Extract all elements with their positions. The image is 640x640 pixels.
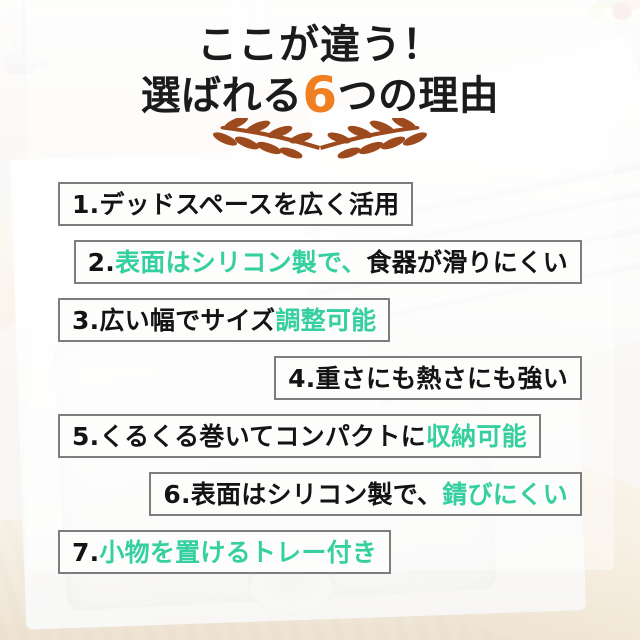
feature-text-6-black: 表面はシリコン製で、 <box>191 482 443 507</box>
feature-text-3-teal: 調整可能 <box>275 308 376 333</box>
feature-box-4: 4.重さにも熱さにも強い <box>274 356 582 400</box>
feature-text-4-black: 重さにも熱さにも強い <box>315 366 568 391</box>
feature-box-7: 7.小物を置けるトレー付き <box>58 530 391 574</box>
feature-row-4: 4.重さにも熱さにも強い <box>0 356 640 414</box>
feature-index-5: 5. <box>72 424 99 449</box>
feature-index-6: 6. <box>163 482 190 507</box>
feature-row-1: 1.デッドスペースを広く活用 <box>0 182 640 240</box>
content-layer: ここが違う！ 選ばれる6つの理由 <box>0 0 640 640</box>
feature-row-2: 2.表面はシリコン製で、食器が滑りにくい <box>0 240 640 298</box>
feature-row-6: 6.表面はシリコン製で、錆びにくい <box>0 472 640 530</box>
headline-count-number: 6 <box>302 66 337 124</box>
feature-row-5: 5.くるくる巻いてコンパクトに収納可能 <box>0 414 640 472</box>
feature-index-2: 2. <box>88 250 115 275</box>
feature-row-7: 7.小物を置けるトレー付き <box>0 530 640 588</box>
feature-box-5: 5.くるくる巻いてコンパクトに収納可能 <box>58 414 541 458</box>
feature-box-6: 6.表面はシリコン製で、錆びにくい <box>149 472 582 516</box>
feature-text-6-teal: 錆びにくい <box>442 482 568 507</box>
feature-text-1-black: デッドスペースを広く活用 <box>99 192 399 217</box>
feature-index-4: 4. <box>288 366 315 391</box>
laurel-branch-icon <box>184 118 456 172</box>
feature-index-7: 7. <box>72 540 99 565</box>
feature-index-3: 3. <box>72 308 99 333</box>
feature-row-3: 3.広い幅でサイズ調整可能 <box>0 298 640 356</box>
headline-line-2: 選ばれる6つの理由 <box>0 70 640 121</box>
headline-line-2-suffix: つの理由 <box>338 73 500 119</box>
infographic-canvas: ここが違う！ 選ばれる6つの理由 <box>0 0 640 640</box>
feature-list: 1.デッドスペースを広く活用 2.表面はシリコン製で、食器が滑りにくい 3.広い… <box>0 182 640 588</box>
headline-line-2-prefix: 選ばれる <box>141 73 303 119</box>
feature-box-2: 2.表面はシリコン製で、食器が滑りにくい <box>74 240 582 284</box>
feature-text-5-black: くるくる巻いてコンパクトに <box>99 424 426 449</box>
feature-text-3-black: 広い幅でサイズ <box>99 308 275 333</box>
feature-index-1: 1. <box>72 192 99 217</box>
feature-box-3: 3.広い幅でサイズ調整可能 <box>58 298 390 342</box>
feature-text-7-teal: 小物を置けるトレー付き <box>99 540 377 565</box>
feature-text-5-teal: 収納可能 <box>426 424 527 449</box>
feature-text-2-black-2: 食器が滑りにくい <box>366 250 568 275</box>
feature-text-2-teal: 表面はシリコン製で、 <box>115 250 367 275</box>
headline: ここが違う！ 選ばれる6つの理由 <box>0 22 640 121</box>
feature-box-1: 1.デッドスペースを広く活用 <box>58 182 413 226</box>
headline-line-1: ここが違う！ <box>0 22 640 68</box>
